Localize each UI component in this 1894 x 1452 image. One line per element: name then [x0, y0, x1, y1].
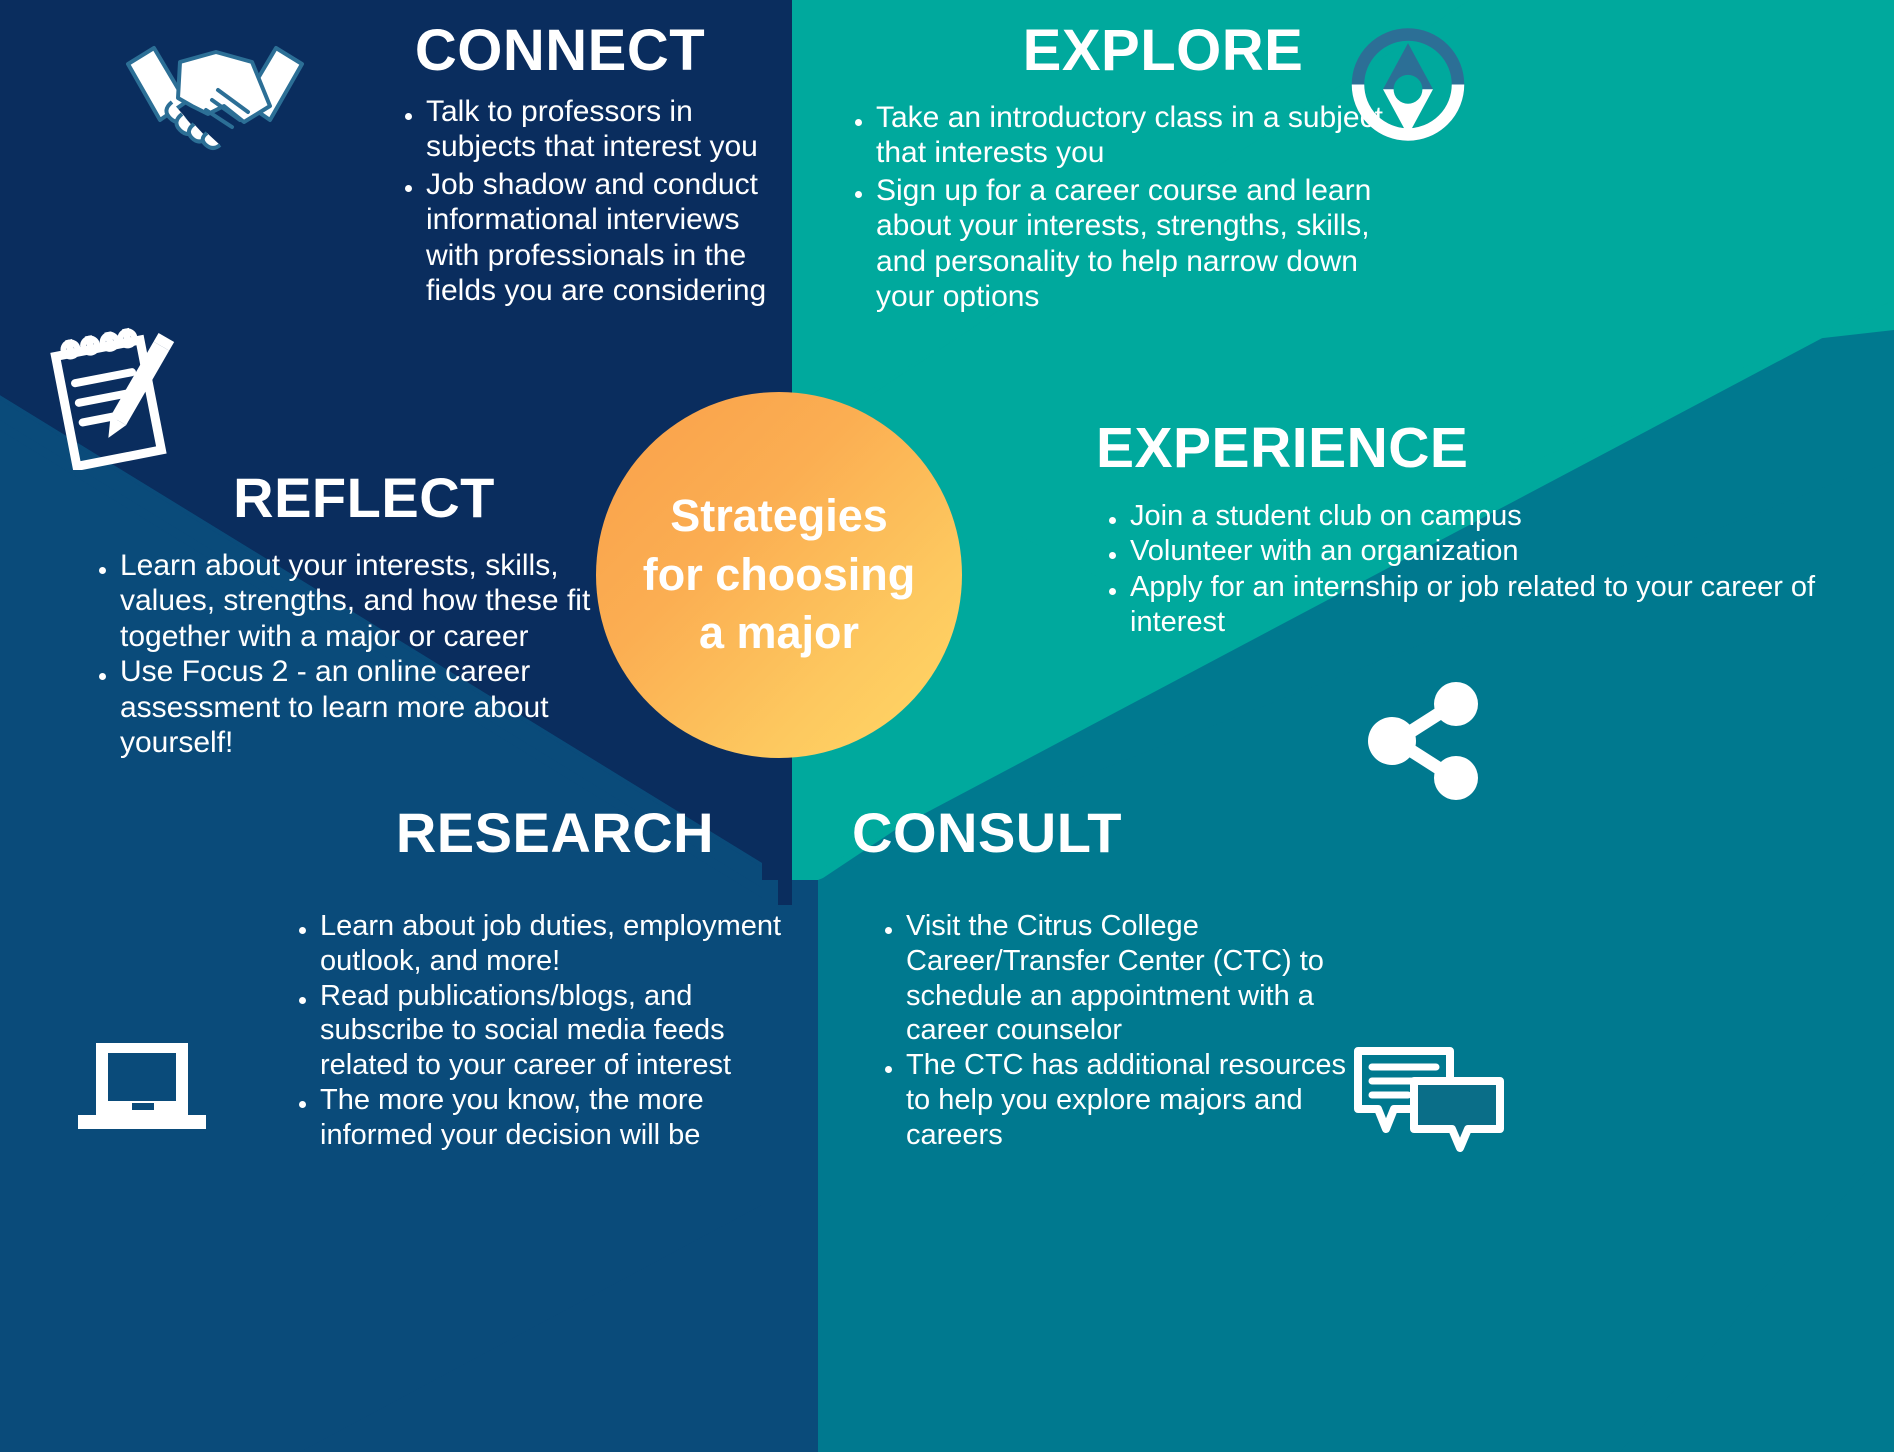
list-item: Read publications/blogs, and subscribe t… — [290, 979, 820, 1083]
laptop-icon — [72, 1035, 207, 1140]
section-explore: EXPLORE Take an introductory class in a … — [828, 22, 1388, 316]
section-research: RESEARCH Learn about job duties, employm… — [260, 805, 820, 1153]
section-connect: CONNECT Talk to professors in subjects t… — [300, 22, 800, 310]
section-title-consult: CONSULT — [846, 805, 1366, 861]
share-network-icon — [1362, 682, 1487, 800]
handshake-icon — [120, 28, 310, 158]
center-title-line-2: for choosing — [643, 546, 915, 605]
section-reflect: REFLECT Learn about your interests, skil… — [70, 470, 600, 760]
list-item: Join a student club on campus — [1100, 499, 1880, 534]
bullet-list-consult: Visit the Citrus College Career/Transfer… — [846, 909, 1366, 1153]
list-item: The more you know, the more informed you… — [290, 1083, 820, 1153]
center-title-circle: Strategies for choosing a major — [596, 392, 962, 758]
list-item: Take an introductory class in a subject … — [846, 100, 1388, 171]
bullet-list-research: Learn about job duties, employment outlo… — [260, 909, 820, 1153]
list-item: Volunteer with an organization — [1100, 534, 1880, 569]
section-title-experience: EXPERIENCE — [1090, 420, 1880, 477]
list-item: Visit the Citrus College Career/Transfer… — [876, 909, 1366, 1048]
list-item: Learn about job duties, employment outlo… — [290, 909, 820, 979]
bullet-list-connect: Talk to professors in subjects that inte… — [300, 94, 800, 308]
infographic-poster: CONNECT Talk to professors in subjects t… — [0, 0, 1894, 1452]
list-item: Talk to professors in subjects that inte… — [396, 94, 800, 165]
notepad-pencil-icon — [42, 320, 187, 470]
list-item: Sign up for a career course and learn ab… — [846, 173, 1388, 315]
chat-bubbles-icon — [1352, 1047, 1507, 1159]
section-title-reflect: REFLECT — [70, 470, 600, 526]
bullet-list-reflect: Learn about your interests, skills, valu… — [70, 548, 600, 760]
bullet-list-experience: Join a student club on campus Volunteer … — [1090, 499, 1880, 641]
center-title-line-1: Strategies — [670, 487, 888, 546]
list-item: Apply for an internship or job related t… — [1100, 570, 1880, 641]
list-item: Job shadow and conduct informational int… — [396, 167, 800, 309]
section-title-explore: EXPLORE — [828, 22, 1388, 80]
list-item: Use Focus 2 - an online career assessmen… — [90, 654, 600, 760]
list-item: The CTC has additional resources to help… — [876, 1048, 1366, 1152]
section-title-connect: CONNECT — [300, 22, 800, 80]
bullet-list-explore: Take an introductory class in a subject … — [828, 100, 1388, 314]
center-title-line-3: a major — [699, 604, 859, 663]
list-item: Learn about your interests, skills, valu… — [90, 548, 600, 654]
section-title-research: RESEARCH — [260, 805, 820, 861]
section-experience: EXPERIENCE Join a student club on campus… — [1090, 420, 1880, 641]
section-consult: CONSULT Visit the Citrus College Career/… — [846, 805, 1366, 1153]
